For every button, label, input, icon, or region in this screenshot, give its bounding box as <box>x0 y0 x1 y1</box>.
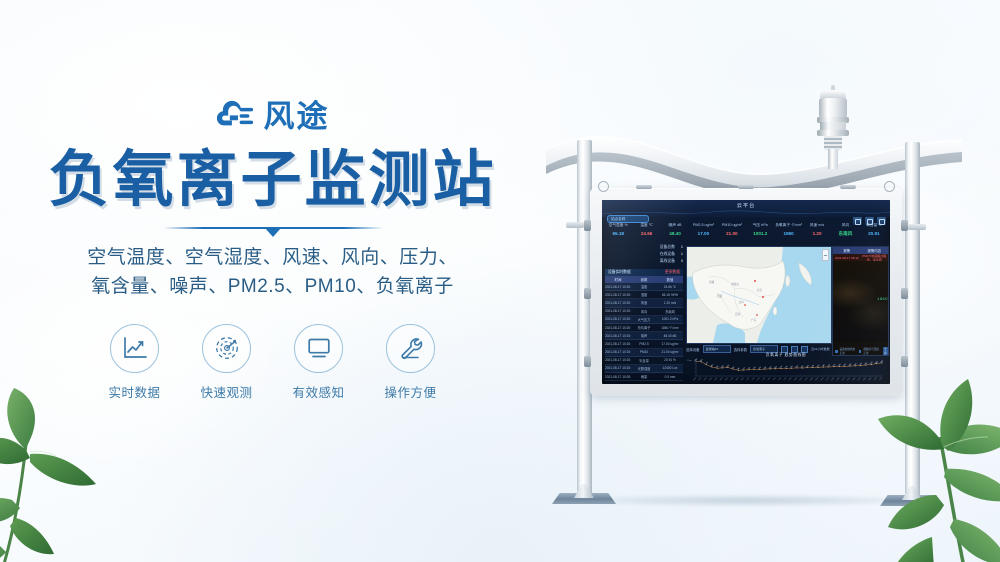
filter-icon-2[interactable] <box>791 346 798 353</box>
feature-label: 操作方便 <box>380 382 442 401</box>
svg-text:21:00: 21:00 <box>804 377 808 381</box>
filter-label-device: 选择设备 <box>686 347 700 352</box>
table-cell: 0.0 mm <box>657 375 683 379</box>
data-table-header: 设备实时数据 更多数据 <box>605 269 683 276</box>
table-cell: 1001.2 hPa <box>657 317 683 321</box>
ultrasonic-weather-sensor-icon <box>816 90 850 168</box>
table-cell: 2021-08-17 10:20:15 <box>605 293 631 297</box>
svg-text:云南: 云南 <box>735 312 741 316</box>
table-cell: 2021-08-17 10:20:15 <box>605 358 631 362</box>
svg-text:23:00: 23:00 <box>815 377 819 381</box>
metric-card: 噪声 dB48.40 <box>661 222 689 242</box>
metric-card: 温度 ℃24.66 <box>632 222 660 242</box>
svg-text:08:00: 08:00 <box>863 377 867 381</box>
metric-card: 风速 m/s1.20 <box>803 222 831 242</box>
svg-text:19:00: 19:00 <box>794 377 798 381</box>
metric-key: PM2.5 ug/m³ <box>689 222 717 229</box>
table-row[interactable]: 2021-08-17 10:20:15雨量0.0 mm <box>605 373 683 381</box>
svg-text:08:00: 08:00 <box>735 377 739 381</box>
dashboard-title: 云平台 <box>602 202 890 209</box>
video-footer[interactable]: 设备在线状态正常 视频信号连接正常 全屏 <box>833 348 889 354</box>
svg-text:17:00: 17:00 <box>783 377 787 381</box>
feature-label: 实时数据 <box>104 382 166 401</box>
svg-text:06:00: 06:00 <box>852 377 856 381</box>
table-column-header: 参数 <box>631 277 657 282</box>
svg-text:广东: 广东 <box>751 318 757 322</box>
metric-value: 48.40 <box>661 229 689 238</box>
metric-key: 气压 hPa <box>746 222 774 229</box>
hanger-ring-left <box>598 181 609 192</box>
hero-text-block: 风途 负氧离子监测站 空气温度、空气湿度、风速、风向、压力、 氧含量、噪声、PM… <box>0 96 545 401</box>
status-dot-2 <box>859 350 862 353</box>
side-bolt <box>901 288 908 299</box>
video-feed[interactable] <box>833 261 888 341</box>
metric-card: 气压 hPa1001.2 <box>746 222 774 242</box>
table-cell: 1860 个/cm³ <box>657 325 683 330</box>
table-cell: PM10 <box>631 350 657 354</box>
brand-name: 风途 <box>264 101 330 132</box>
table-cell: 21.00 ug/m³ <box>657 350 683 354</box>
feature-label: 快速观测 <box>196 382 258 401</box>
fullscreen-button[interactable]: 全屏 <box>883 347 889 356</box>
table-cell: 65.18 %RH <box>657 293 683 297</box>
sensor-list-line-1: 空气温度、空气湿度、风速、风向、压力、 <box>0 243 545 272</box>
table-row[interactable]: 2021-08-17 10:20:15湿度65.18 %RH <box>605 291 683 299</box>
sensor-list-line-2: 氧含量、噪声、PM2.5、PM10、负氧离子 <box>0 272 545 301</box>
table-cell: 2021-08-17 10:20:15 <box>605 301 631 305</box>
table-row[interactable]: 2021-08-17 10:20:15负氧离子1860 个/cm³ <box>605 324 683 332</box>
metric-card: 负氧离子 个/cm³1860 <box>774 222 802 242</box>
table-row[interactable]: 2021-08-17 10:20:15噪声48.40 dB <box>605 332 683 340</box>
side-bolt <box>901 220 908 231</box>
table-cell: 2021-08-17 10:20:15 <box>605 317 631 321</box>
status-dot-1 <box>835 350 838 353</box>
base-plate-left <box>552 484 616 504</box>
table-cell: 雨量 <box>631 374 657 379</box>
svg-text:1180: 1180 <box>747 367 751 371</box>
metric-key: 氧含量 % <box>860 222 888 229</box>
svg-text:00:00: 00:00 <box>820 377 824 381</box>
table-cell: 17.00 ug/m³ <box>657 342 683 346</box>
table-row[interactable]: 2021-08-17 10:20:15PM2.517.00 ug/m³ <box>605 340 683 348</box>
metric-card: 氧含量 %20.91 <box>860 222 888 242</box>
table-cell: 2021-08-17 10:20:15 <box>605 366 631 370</box>
table-cell: 氧含量 <box>631 358 657 363</box>
metric-key: 空气湿度 % <box>604 222 632 229</box>
svg-text:06:00: 06:00 <box>725 377 729 381</box>
metric-key: 温度 ℃ <box>632 222 660 229</box>
svg-text:09:00: 09:00 <box>741 377 745 381</box>
table-cell: 光照强度 <box>631 366 657 371</box>
radar-scan-icon <box>202 324 251 373</box>
metric-value: 21.00 <box>718 229 746 238</box>
trend-chart: 负氧离子 趋势曲线图 278000:00266001:00212002:0016… <box>686 354 886 382</box>
support-post-right <box>905 142 920 496</box>
monitor-icon <box>294 324 343 373</box>
side-bolt <box>584 356 591 367</box>
map-zoom-icon[interactable] <box>822 249 829 261</box>
video-status-1: 设备在线状态正常 <box>840 347 857 355</box>
metric-key: 风速 m/s <box>803 222 831 229</box>
alert-column-header: 报警内容 <box>861 248 889 253</box>
metric-key: 噪声 dB <box>661 222 689 229</box>
svg-text:01:00: 01:00 <box>698 377 702 381</box>
svg-text:11:00: 11:00 <box>879 377 883 381</box>
table-row[interactable]: 2021-08-17 10:20:15光照强度12400 Lux <box>605 365 683 373</box>
stat-row: 设备总数1 <box>605 244 683 251</box>
svg-text:16:00: 16:00 <box>778 377 782 381</box>
side-arm-right <box>908 224 926 230</box>
svg-text:西藏: 西藏 <box>717 294 723 298</box>
svg-text:04:00: 04:00 <box>842 377 846 381</box>
metric-card: PM10 ug/m³21.00 <box>718 222 746 242</box>
metric-card: PM2.5 ug/m³17.00 <box>689 222 717 242</box>
table-cell: 2021-08-17 10:20:15 <box>605 350 631 354</box>
sensor-list: 空气温度、空气湿度、风速、风向、压力、 氧含量、噪声、PM2.5、PM10、负氧… <box>0 243 545 302</box>
table-cell: 2021-08-17 10:20:15 <box>605 375 631 379</box>
mount-tab <box>636 185 652 189</box>
table-body[interactable]: 2021-08-17 10:20:15温度24.66 ℃2021-08-17 1… <box>605 283 683 381</box>
side-arm-left <box>566 222 584 228</box>
line-chart-icon <box>110 324 159 373</box>
table-cell: 大气压力 <box>631 317 657 322</box>
table-row[interactable]: 2021-08-17 10:20:15风速1.20 m/s <box>605 299 683 307</box>
svg-text:05:00: 05:00 <box>847 377 851 381</box>
stat-value: 1 <box>681 251 683 258</box>
svg-text:03:00: 03:00 <box>709 377 713 381</box>
svg-text:00:00: 00:00 <box>693 377 697 381</box>
svg-text:14:00: 14:00 <box>767 377 771 381</box>
left-column: 设备总数1在线设备1离线设备0 设备实时数据 更多数据 时间参数数值 2021-… <box>605 244 683 380</box>
svg-text:个/cm³: 个/cm³ <box>687 359 692 362</box>
svg-text:18:00: 18:00 <box>788 377 792 381</box>
alert-row[interactable]: 2021-08-17 09:12PM2.5浓度超过阈值，请注意 <box>833 254 888 261</box>
hanger-ring-right <box>884 181 895 192</box>
stat-label: 在线设备 <box>660 251 675 258</box>
svg-text:12:00: 12:00 <box>757 377 761 381</box>
svg-text:11:00: 11:00 <box>751 377 755 381</box>
mount-tab <box>738 185 754 189</box>
table-cell: 湿度 <box>631 292 657 297</box>
alert-cell: 2021-08-17 09:12 <box>833 256 861 260</box>
stat-label: 设备总数 <box>660 244 675 251</box>
metric-value: 1860 <box>774 229 802 238</box>
mount-tab <box>840 185 856 189</box>
page-title: 负氧离子监测站 <box>0 147 545 212</box>
table-cell: 2021-08-17 10:20:15 <box>605 285 631 289</box>
table-cell: 负氧离子 <box>631 325 657 330</box>
metric-key: 负氧离子 个/cm³ <box>774 222 802 229</box>
table-cell: 风向 <box>631 309 657 314</box>
table-cell: PM2.5 <box>631 342 657 346</box>
svg-text:07:00: 07:00 <box>730 377 734 381</box>
svg-text:10:00: 10:00 <box>746 377 750 381</box>
stat-label: 离线设备 <box>660 258 675 265</box>
stat-value: 0 <box>681 258 683 265</box>
metric-value: 东南风 <box>831 229 859 238</box>
metric-key: 风向 <box>831 222 859 229</box>
metric-strip: 空气湿度 %65.18温度 ℃24.66噪声 dB48.40PM2.5 ug/m… <box>604 222 888 242</box>
china-map[interactable]: 新疆 西藏 内蒙古 四川 云南 北京 广东 <box>686 246 832 344</box>
metric-value: 65.18 <box>604 229 632 238</box>
table-column-headers: 时间参数数值 <box>605 276 683 283</box>
table-cell: 2021-08-17 10:20:15 <box>605 326 631 330</box>
metric-value: 1.20 <box>803 229 831 238</box>
more-data-link[interactable]: 更多数据 <box>665 270 680 275</box>
table-cell: 48.40 dB <box>657 334 683 338</box>
svg-text:09:00: 09:00 <box>868 377 872 381</box>
metric-card: 空气湿度 %65.18 <box>604 222 632 242</box>
alert-column-header: 报警 <box>833 248 861 253</box>
feature-item-realtime-data[interactable]: 实时数据 <box>104 324 166 401</box>
side-bolt <box>584 288 591 299</box>
svg-text:02:00: 02:00 <box>703 377 707 381</box>
metric-value: 20.91 <box>860 229 888 238</box>
svg-text:北京: 北京 <box>757 288 763 292</box>
stat-value: 1 <box>681 244 683 251</box>
stat-row: 离线设备0 <box>605 258 683 265</box>
table-cell: 温度 <box>631 284 657 289</box>
feature-item-easy-operation[interactable]: 操作方便 <box>380 324 442 401</box>
param-select[interactable]: 负氧离子 <box>750 345 778 353</box>
svg-text:新疆: 新疆 <box>709 280 715 284</box>
table-title: 设备实时数据 <box>608 270 631 275</box>
dashboard-screen[interactable]: 云平台 站点名称 空气湿度 %65.18温度 ℃24.66噪声 dB48.40P… <box>602 200 890 384</box>
table-cell: 20.91 % <box>657 358 683 362</box>
table-column-header: 时间 <box>605 277 631 282</box>
metric-key: PM10 ug/m³ <box>718 222 746 229</box>
metric-card: 风向东南风 <box>831 222 859 242</box>
svg-text:15:00: 15:00 <box>773 377 777 381</box>
svg-text:07:00: 07:00 <box>858 377 862 381</box>
svg-text:内蒙古: 内蒙古 <box>731 282 739 286</box>
table-cell: 12400 Lux <box>657 366 683 370</box>
feature-item-effective-sensing[interactable]: 有效感知 <box>288 324 350 401</box>
table-row[interactable]: 2021-08-17 10:20:15大气压力1001.2 hPa <box>605 316 683 324</box>
monitoring-station-illustration: 云平台 站点名称 空气湿度 %65.18温度 ℃24.66噪声 dB48.40P… <box>520 70 990 540</box>
side-bolt <box>584 220 591 231</box>
table-cell: 2021-08-17 10:20:15 <box>605 334 631 338</box>
promo-banner: 风途 负氧离子监测站 空气温度、空气湿度、风速、风向、压力、 氧含量、噪声、PM… <box>0 0 1000 562</box>
metric-value: 17.00 <box>689 229 717 238</box>
svg-text:02:00: 02:00 <box>831 377 835 381</box>
table-cell: 2021-08-17 10:20:15 <box>605 309 631 313</box>
filter-label-param: 选择参数 <box>734 347 748 352</box>
feature-list: 实时数据 快速观测 <box>0 324 545 401</box>
svg-text:四川: 四川 <box>739 300 745 304</box>
table-cell: 2021-08-17 10:20:15 <box>605 342 631 346</box>
alert-and-video-panel[interactable]: 报警报警内容 2021-08-17 09:12PM2.5浓度超过阈值，请注意 设… <box>832 246 889 356</box>
video-status-2: 视频信号连接正常 <box>863 347 880 355</box>
table-row[interactable]: 2021-08-17 10:20:15氧含量20.91 % <box>605 357 683 365</box>
svg-text:20:00: 20:00 <box>799 377 803 381</box>
wrench-icon <box>386 324 435 373</box>
feature-label: 有效感知 <box>288 382 350 401</box>
filter-tag-1[interactable]: 近24小时数据 <box>811 347 829 351</box>
metric-value: 24.66 <box>632 229 660 238</box>
filter-icon-1[interactable] <box>781 346 788 353</box>
filter-icon-3[interactable] <box>801 346 808 353</box>
table-cell: 东南风 <box>657 309 683 314</box>
table-column-header: 数值 <box>657 277 683 282</box>
base-plate-right <box>880 486 944 506</box>
display-housing: 云平台 站点名称 空气湿度 %65.18温度 ℃24.66噪声 dB48.40P… <box>590 188 902 396</box>
svg-text:13:00: 13:00 <box>762 377 766 381</box>
table-cell: 1.20 m/s <box>657 301 683 305</box>
metric-value: 1001.2 <box>746 229 774 238</box>
brand-logo: 风途 <box>0 96 545 136</box>
table-row[interactable]: 2021-08-17 10:20:15风向东南风 <box>605 308 683 316</box>
stat-row: 在线设备1 <box>605 251 683 258</box>
table-cell: 噪声 <box>631 333 657 338</box>
live-reading: 1860 <box>877 296 888 301</box>
device-select[interactable]: 监测站01 <box>703 345 731 353</box>
feature-item-fast-observation[interactable]: 快速观测 <box>196 324 258 401</box>
svg-text:05:00: 05:00 <box>719 377 723 381</box>
wind-cloud-logo-icon <box>216 100 255 133</box>
svg-text:10:00: 10:00 <box>874 377 878 381</box>
table-cell: 风速 <box>631 300 657 305</box>
side-bolt <box>901 356 908 367</box>
title-divider <box>163 227 383 229</box>
table-row[interactable]: 2021-08-17 10:20:15温度24.66 ℃ <box>605 283 683 291</box>
svg-text:03:00: 03:00 <box>836 377 840 381</box>
svg-text:01:00: 01:00 <box>826 377 830 381</box>
svg-text:22:00: 22:00 <box>810 377 814 381</box>
table-cell: 24.66 ℃ <box>657 285 683 289</box>
svg-text:04:00: 04:00 <box>714 377 718 381</box>
table-row[interactable]: 2021-08-17 10:20:15PM1021.00 ug/m³ <box>605 349 683 357</box>
